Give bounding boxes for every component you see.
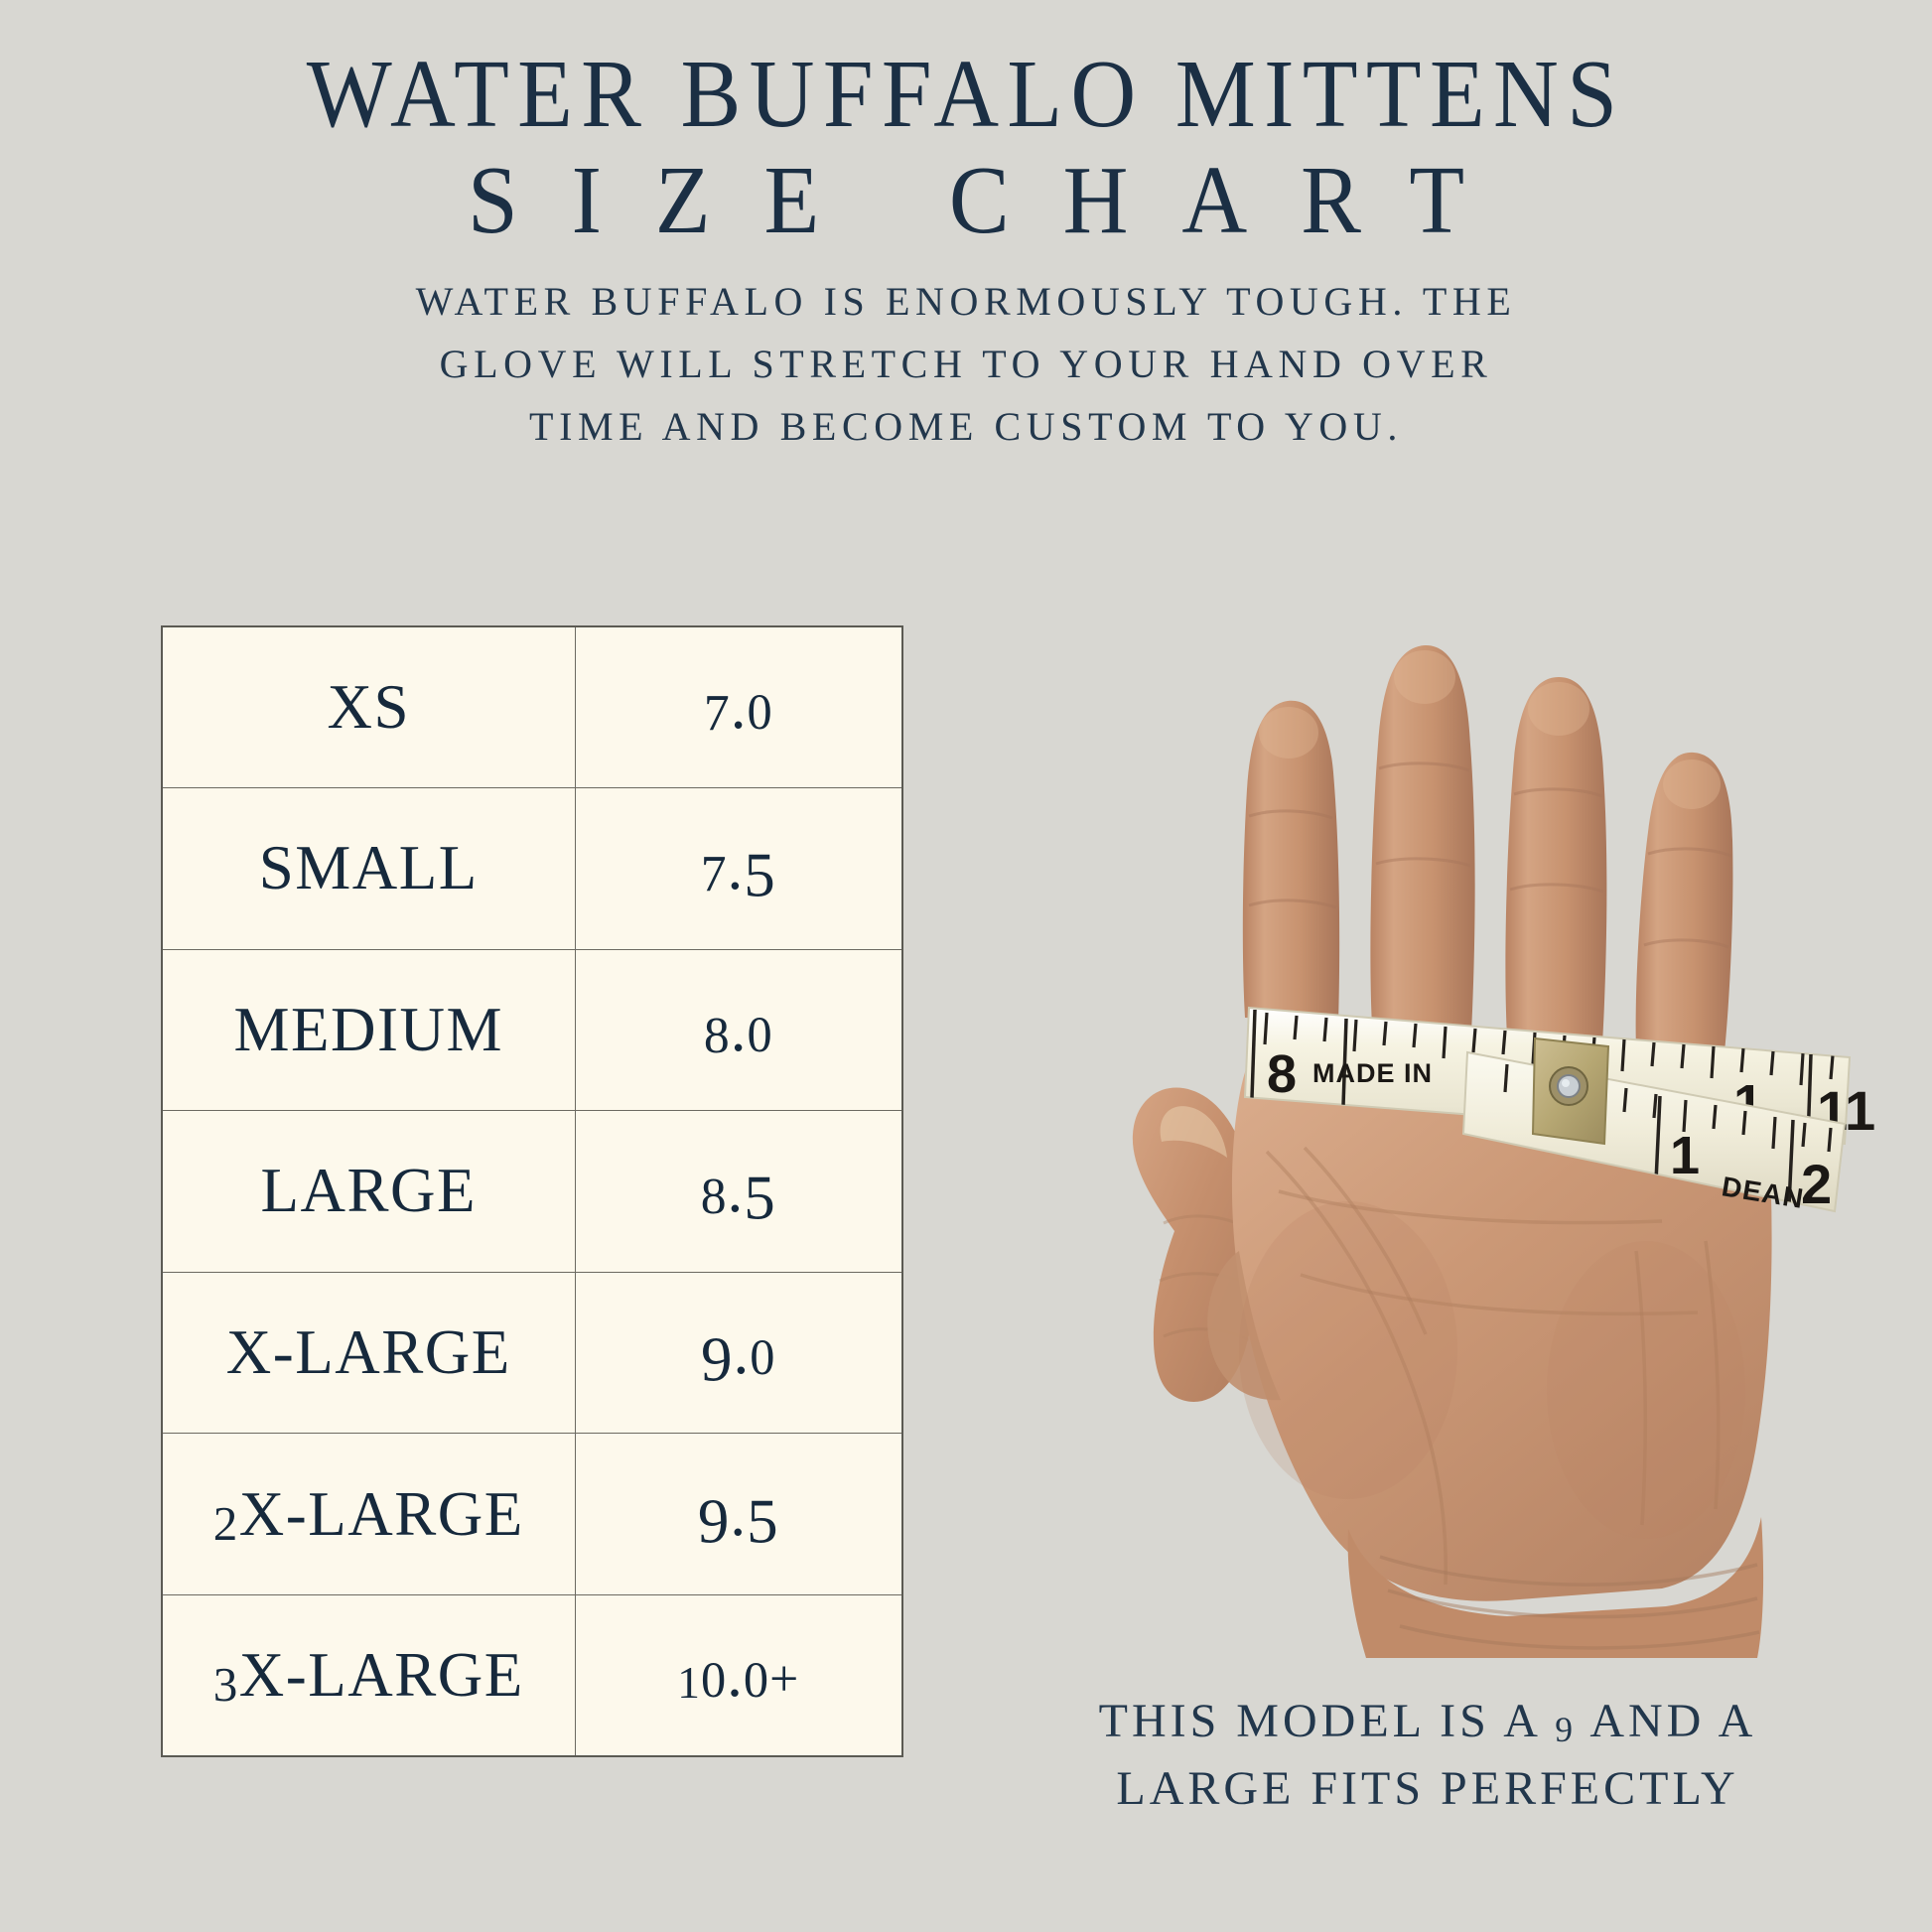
- table-row: X-LARGE 9.0: [162, 1272, 902, 1434]
- caption-line-1-post: AND A: [1577, 1695, 1756, 1747]
- tape-clip-rivet-inner: [1558, 1075, 1580, 1097]
- tape-overlap-number-1: 1: [1670, 1126, 1700, 1185]
- table-cell-size: 2X-LARGE: [162, 1434, 575, 1595]
- subtitle-line-1: WATER BUFFALO IS ENORMOUSLY TOUGH. THE: [0, 270, 1932, 333]
- table-cell-size: XS: [162, 626, 575, 788]
- tape-text-made-in: MADE IN: [1312, 1058, 1433, 1088]
- table-cell-size: X-LARGE: [162, 1272, 575, 1434]
- table-row: XS 7.0: [162, 626, 902, 788]
- size-chart-page: WATER BUFFALO MITTENS SIZE CHART WATER B…: [0, 0, 1932, 1932]
- table-cell-size: MEDIUM: [162, 949, 575, 1111]
- tape-overlap-number-2: 2: [1801, 1153, 1832, 1215]
- tape-number-8: 8: [1267, 1044, 1297, 1104]
- table-cell-measurement: 9.0: [575, 1272, 902, 1434]
- table-cell-measurement: 7.5: [575, 788, 902, 950]
- caption-line-1-number: 9: [1555, 1705, 1577, 1754]
- table-cell-measurement: 8.0: [575, 949, 902, 1111]
- title-line-primary: WATER BUFFALO MITTENS: [68, 44, 1864, 147]
- tape-clip-rivet-glint: [1562, 1079, 1570, 1087]
- title-line-secondary: SIZE CHART: [68, 147, 1864, 256]
- model-caption: THIS MODEL IS A 9 AND A LARGE FITS PERFE…: [931, 1688, 1924, 1823]
- table-cell-measurement: 9.5: [575, 1434, 902, 1595]
- table-row: LARGE 8.5: [162, 1111, 902, 1273]
- table-cell-size: 3X-LARGE: [162, 1594, 575, 1756]
- hand-measurement-photo: 8 MADE IN 9 1 11: [951, 556, 1884, 1658]
- size-chart-table-body: XS 7.0 SMALL 7.5 MEDIUM 8.0 LARGE: [162, 626, 902, 1756]
- table-row: SMALL 7.5: [162, 788, 902, 950]
- table-cell-measurement: 7.0: [575, 626, 902, 788]
- table-row: MEDIUM 8.0: [162, 949, 902, 1111]
- caption-line-1: THIS MODEL IS A 9 AND A: [931, 1688, 1924, 1755]
- subtitle: WATER BUFFALO IS ENORMOUSLY TOUGH. THE G…: [0, 270, 1932, 459]
- table-cell-size: LARGE: [162, 1111, 575, 1273]
- table-row: 2X-LARGE 9.5: [162, 1434, 902, 1595]
- caption-line-2: LARGE FITS PERFECTLY: [931, 1755, 1924, 1823]
- subtitle-line-2: GLOVE WILL STRETCH TO YOUR HAND OVER: [0, 333, 1932, 395]
- table-cell-measurement: 8.5: [575, 1111, 902, 1273]
- page-title: WATER BUFFALO MITTENS SIZE CHART: [0, 44, 1932, 256]
- table-cell-measurement: 10.0+: [575, 1594, 902, 1756]
- table-row: 3X-LARGE 10.0+: [162, 1594, 902, 1756]
- caption-line-1-pre: THIS MODEL IS A: [1099, 1695, 1556, 1747]
- hypothenar-shadow: [1547, 1241, 1745, 1539]
- subtitle-line-3: TIME AND BECOME CUSTOM TO YOU.: [0, 395, 1932, 458]
- thenar-shadow: [1239, 1201, 1457, 1499]
- table-cell-size: SMALL: [162, 788, 575, 950]
- size-chart-table: XS 7.0 SMALL 7.5 MEDIUM 8.0 LARGE: [161, 625, 903, 1757]
